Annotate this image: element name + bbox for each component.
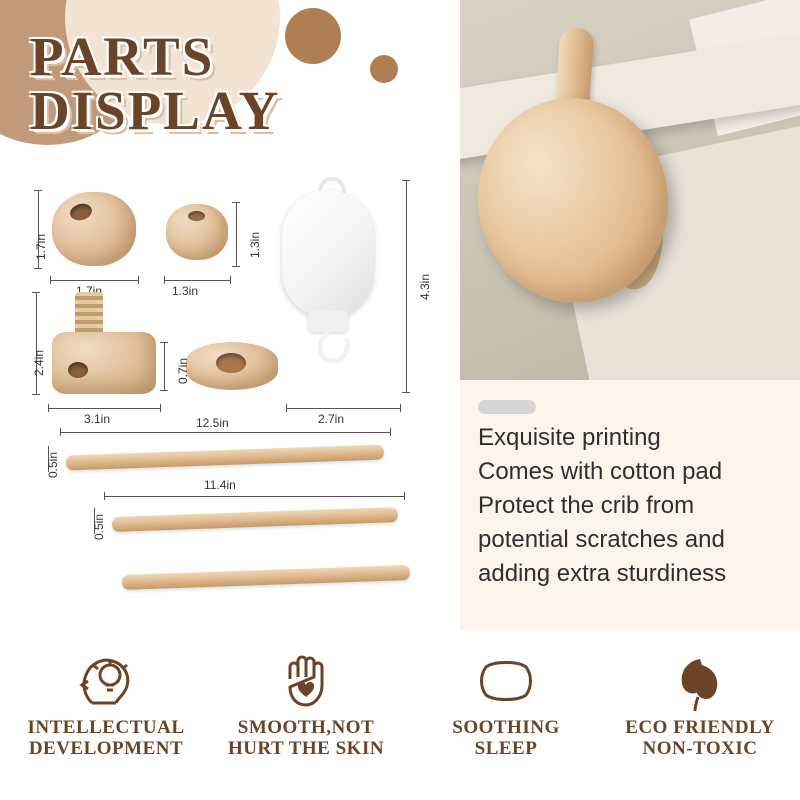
dim-tick (402, 392, 410, 393)
feature-label-line2: DEVELOPMENT (6, 739, 206, 760)
dim-tick (400, 404, 401, 412)
wooden-disc-nut (186, 342, 278, 390)
leaf-icon (600, 640, 800, 718)
dim-label-stick-long-length: 12.5in (196, 416, 229, 430)
dim-label-mobile-width: 2.7in (318, 412, 344, 426)
dim-tick (230, 276, 231, 284)
dim-line (164, 342, 165, 390)
dim-tick (60, 428, 61, 436)
wooden-stick-long (66, 444, 384, 470)
dim-tick (32, 394, 40, 395)
dim-line (164, 280, 230, 281)
feature-label-line1: INTELLECTUAL (6, 718, 206, 739)
panel-accent-pill (478, 400, 536, 414)
panel-line-2: Comes with cotton pad (478, 458, 788, 486)
feature-intellectual-development: INTELLECTUAL DEVELOPMENT (6, 640, 206, 759)
feature-label-line1: SOOTHING (406, 718, 606, 739)
mobile-music-box (282, 190, 374, 318)
wooden-stick-mid (112, 507, 398, 532)
features-text-panel: Exquisite printing Comes with cotton pad… (460, 380, 800, 630)
ball-hole (188, 211, 205, 221)
dim-tick (390, 428, 391, 436)
dim-label-stick-mid-thickness: 0.5in (92, 514, 106, 540)
dim-line (48, 408, 160, 409)
wooden-ball-large (52, 192, 136, 266)
feature-label-line1: SMOOTH,NOT (206, 718, 406, 739)
pillow-icon (406, 640, 606, 718)
dim-line (286, 408, 400, 409)
dim-tick (50, 276, 51, 284)
dim-line (236, 202, 237, 266)
dim-tick (160, 342, 168, 343)
dim-tick (164, 276, 165, 284)
dim-label-ball-small-height: 1.3in (248, 232, 262, 258)
feature-smooth-not-hurt-skin: SMOOTH,NOT HURT THE SKIN (206, 640, 406, 759)
dim-tick (402, 180, 410, 181)
dim-tick (160, 404, 161, 412)
dim-tick (34, 268, 42, 269)
feature-soothing-sleep: SOOTHING SLEEP (406, 640, 606, 759)
panel-line-3: Protect the crib from (478, 492, 788, 520)
dim-tick (138, 276, 139, 284)
feature-label-line2: NON-TOXIC (600, 739, 800, 760)
feature-label-line2: HURT THE SKIN (206, 739, 406, 760)
dim-tick (48, 404, 49, 412)
hand-heart-icon (206, 640, 406, 718)
dim-line (50, 280, 138, 281)
dim-line (36, 292, 37, 394)
dim-tick (232, 202, 240, 203)
dim-tick (34, 190, 42, 191)
product-photo (460, 0, 800, 380)
disc-hole (216, 353, 246, 373)
dim-tick (32, 292, 40, 293)
wooden-knob (52, 332, 156, 394)
ball-hole (68, 201, 93, 222)
head-lightbulb-icon (6, 640, 206, 718)
knob-hole (68, 362, 88, 378)
panel-line-1: Exquisite printing (478, 424, 788, 452)
dim-tick (104, 492, 105, 500)
feature-label-line1: ECO FRIENDLY (600, 718, 800, 739)
wooden-ball-small (166, 204, 228, 260)
dim-tick (404, 492, 405, 500)
dim-tick (160, 390, 168, 391)
feature-label-line2: SLEEP (406, 739, 606, 760)
dim-tick (232, 266, 240, 267)
title-line-2: DISPLAY (30, 84, 430, 138)
parts-diagram: 1.7in 1.7in 1.3in 1.3in 2.4in 3.1in (0, 160, 460, 630)
dim-line (104, 496, 404, 497)
feature-row: INTELLECTUAL DEVELOPMENT SMOOTH,NOT HURT… (0, 630, 800, 800)
title-line-1: PARTS (30, 30, 430, 84)
page-title: PARTS DISPLAY (30, 30, 430, 138)
dim-label-ball-small-width: 1.3in (172, 284, 198, 298)
dim-label-stick-long-thickness: 0.5in (46, 452, 60, 478)
dim-label-mobile-height: 4.3in (418, 274, 432, 300)
dim-label-ball-large-height: 1.7in (34, 234, 48, 260)
feature-eco-friendly: ECO FRIENDLY NON-TOXIC (600, 640, 800, 759)
dim-label-knob-height: 2.4in (32, 350, 46, 376)
wooden-stick-short (122, 565, 410, 590)
dim-label-knob-width: 3.1in (84, 412, 110, 426)
dim-label-disc-height: 0.7in (176, 358, 190, 384)
dim-line (406, 180, 407, 392)
panel-line-4: potential scratches and (478, 526, 788, 554)
dim-label-stick-mid-length: 11.4in (204, 478, 236, 492)
panel-line-5: adding extra sturdiness (478, 560, 788, 588)
dim-line (60, 432, 390, 433)
dim-tick (286, 404, 287, 412)
product-infographic: PARTS DISPLAY 1.7in 1.7in 1.3in 1.3in (0, 0, 800, 800)
